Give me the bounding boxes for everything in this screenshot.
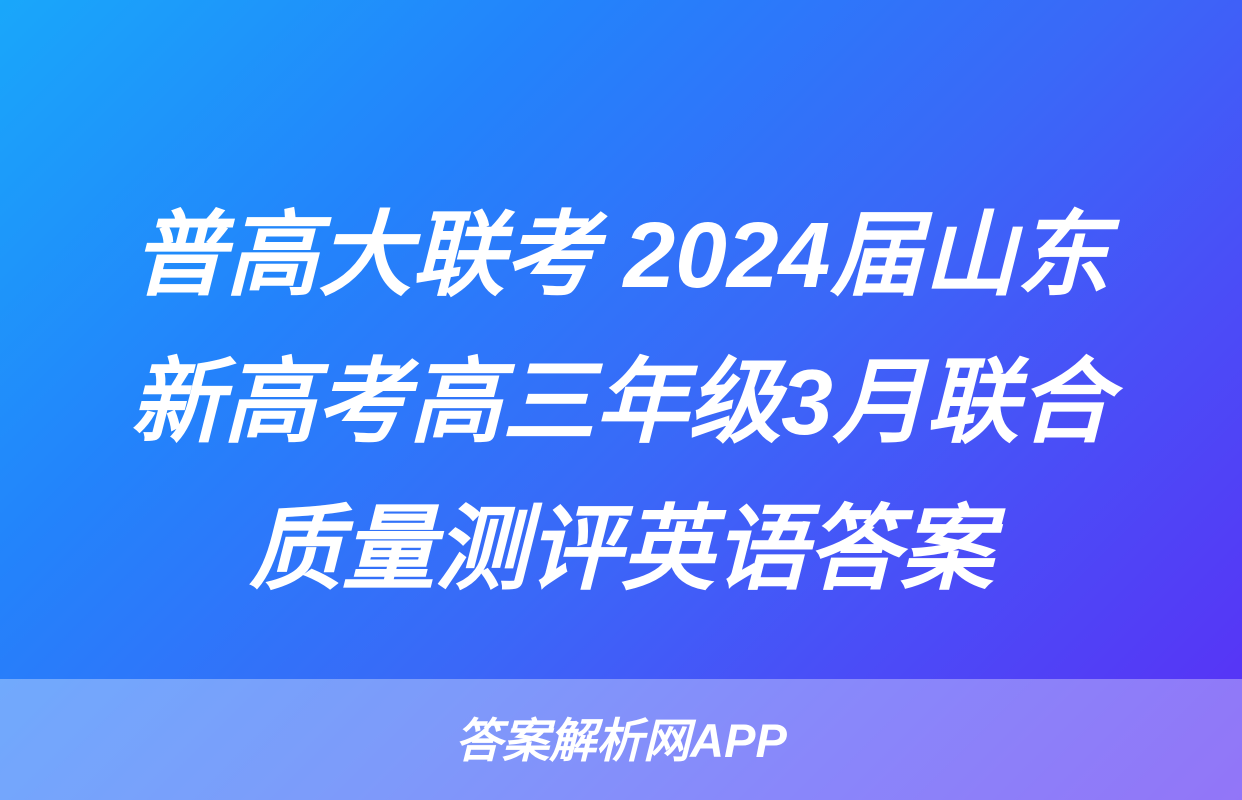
- title-line-3: 质量测评英语答案: [46, 476, 1196, 623]
- title-line-1: 普高大联考 2024届山东: [46, 182, 1196, 329]
- poster-canvas: 普高大联考 2024届山东 新高考高三年级3月联合 质量测评英语答案 答案解析网…: [0, 0, 1242, 800]
- page-title: 普高大联考 2024届山东 新高考高三年级3月联合 质量测评英语答案: [0, 182, 1242, 623]
- watermark-brand-text: 答案解析网APP: [455, 717, 787, 764]
- footer-band: 答案解析网APP: [0, 679, 1242, 800]
- title-line-2: 新高考高三年级3月联合: [46, 329, 1196, 476]
